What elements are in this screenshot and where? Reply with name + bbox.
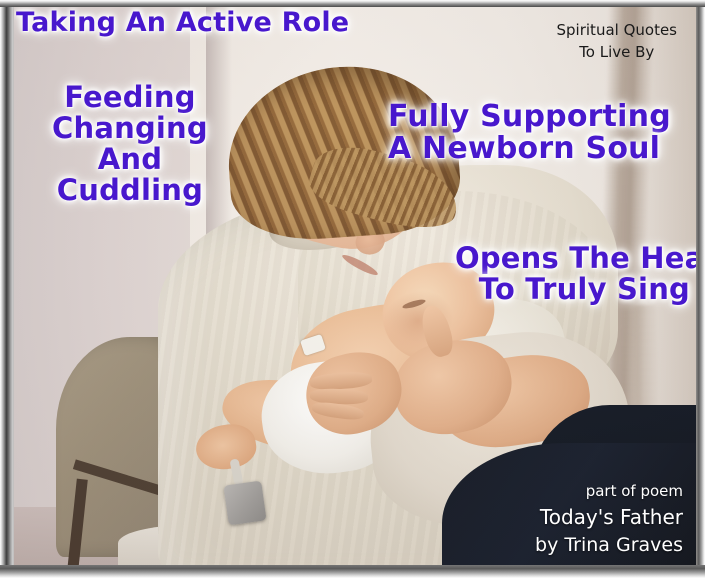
quote-block-left: Feeding Changing And Cuddling: [52, 82, 208, 207]
quote-line: Fully Supporting: [388, 101, 671, 132]
poem-title: Today's Father: [535, 504, 683, 530]
brand-line-2: To Live By: [557, 42, 677, 64]
quote-line-title: Taking An Active Role: [16, 9, 349, 37]
brand-line-1: Spiritual Quotes: [557, 20, 677, 42]
quote-block-right: Opens The Heart To Truly Sing: [455, 243, 690, 305]
quote-poster: Taking An Active Role Feeding Changing A…: [0, 0, 705, 578]
poem-attribution: part of poem Today's Father by Trina Gra…: [535, 482, 683, 558]
quote-line: To Truly Sing: [455, 274, 690, 304]
quote-block-middle: Fully Supporting A Newborn Soul: [388, 101, 671, 165]
quote-line: And: [52, 144, 208, 174]
brand-name: Spiritual Quotes To Live By: [557, 20, 677, 64]
quote-line: Changing: [52, 113, 208, 143]
quote-line: Opens The Heart: [455, 243, 690, 273]
quote-line: Feeding: [52, 82, 208, 112]
poem-author: by Trina Graves: [535, 533, 683, 558]
quote-line: Cuddling: [52, 175, 208, 205]
attribution-prefix: part of poem: [535, 482, 683, 502]
sweater-label-patch: [223, 481, 266, 526]
quote-line: A Newborn Soul: [388, 133, 671, 164]
